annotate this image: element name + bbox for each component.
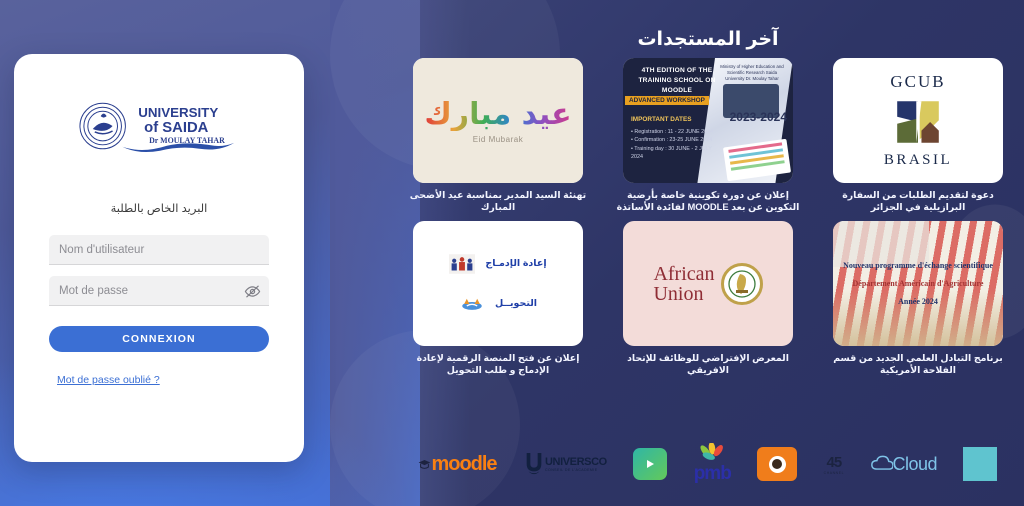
gcub-emblem-icon bbox=[892, 96, 944, 148]
universco-wordmark: UNIVERSCO bbox=[545, 456, 607, 468]
news-card[interactable]: عيد مبارك Eid Mubarak تهنئة السيد المدير… bbox=[400, 58, 596, 213]
partner-logo-cloud[interactable]: Cloud bbox=[871, 442, 938, 486]
usda-line1: Nouveau programme d'échange scientifique bbox=[843, 261, 993, 270]
graduation-cap-icon bbox=[418, 458, 431, 471]
login-form: CONNEXION bbox=[49, 235, 269, 352]
transfer-label: التحويــل bbox=[495, 298, 537, 309]
news-card-caption: دعوة لتقديم الطلبات من السفارة البرازيلي… bbox=[826, 189, 1010, 213]
universco-subtitle: CONSEIL DE L'ACADEMIE bbox=[545, 468, 598, 472]
partner-logo-video-platform[interactable] bbox=[633, 442, 667, 486]
camera-icon bbox=[757, 447, 797, 481]
partner-logo-45-channel[interactable]: 45 CHANNEL bbox=[824, 442, 844, 486]
usda-line3: Année 2024 bbox=[898, 297, 938, 306]
c-shape-icon bbox=[963, 447, 997, 481]
university-of-saida-logo: UNIVERSITY of SAIDA Dr MOULAY TAHAR bbox=[75, 101, 243, 157]
channel-number: 45 bbox=[827, 454, 842, 471]
moodle-title: 4TH EDITION OF THE TRAINING SCHOOL ON MO… bbox=[628, 66, 726, 96]
universco-mark-icon bbox=[523, 451, 545, 477]
news-thumbnail-moodle: Ministry of Higher Education and Scienti… bbox=[623, 58, 793, 183]
au-line2: Union bbox=[653, 284, 714, 304]
partner-logo-c-platform[interactable] bbox=[963, 442, 997, 486]
news-card[interactable]: إعادة الإدمـاج التحويــل bbox=[400, 221, 596, 376]
news-grid: عيد مبارك Eid Mubarak تهنئة السيد المدير… bbox=[396, 58, 1020, 376]
people-group-icon bbox=[449, 254, 475, 274]
eid-subtitle: Eid Mubarak bbox=[473, 135, 523, 144]
password-input[interactable] bbox=[49, 276, 269, 306]
partner-logo-universco[interactable]: UNIVERSCO CONSEIL DE L'ACADEMIE bbox=[523, 442, 607, 486]
news-section-title: آخر المستجدات bbox=[392, 28, 1024, 51]
news-card-caption: تهنئة السيد المدير بمناسبة عيد الأضحى ال… bbox=[406, 189, 590, 213]
news-card-caption: إعلان عن فتح المنصة الرقمية لإعادة الإدم… bbox=[406, 352, 590, 376]
partner-logos-bar: moodle UNIVERSCO CONSEIL DE L'ACADEMIE p… bbox=[392, 438, 1024, 490]
news-card[interactable]: Ministry of Higher Education and Scienti… bbox=[610, 58, 806, 213]
moodle-badge: ADVANCED WORKSHOP bbox=[625, 96, 709, 105]
news-card[interactable]: GCUB BRASIL دعوة لتقديم الطلبات من السفا… bbox=[820, 58, 1016, 213]
news-thumbnail-usda: Nouveau programme d'échange scientifique… bbox=[833, 221, 1003, 346]
african-union-emblem-icon bbox=[721, 263, 763, 305]
moodle-dates: • Registration : 11 - 22 JUNE 2024 • Con… bbox=[631, 128, 723, 162]
moodle-wordmark: moodle bbox=[431, 453, 496, 476]
news-thumbnail-eid: عيد مبارك Eid Mubarak bbox=[413, 58, 583, 183]
student-email-label: البريد الخاص بالطلبة bbox=[111, 201, 208, 215]
news-card-caption: برنامج التبادل العلمي الجديد من قسم الفل… bbox=[826, 352, 1010, 376]
svg-text:UNIVERSITY: UNIVERSITY bbox=[138, 105, 218, 120]
gcub-top-text: GCUB bbox=[890, 72, 945, 92]
partner-logo-photo-gallery[interactable] bbox=[757, 442, 797, 486]
eye-off-icon bbox=[244, 283, 261, 300]
news-thumbnail-gcub: GCUB BRASIL bbox=[833, 58, 1003, 183]
partner-logo-pmb[interactable]: pmb bbox=[694, 442, 731, 486]
play-button-icon bbox=[633, 448, 667, 480]
news-thumbnail-reintegration: إعادة الإدمـاج التحويــل bbox=[413, 221, 583, 346]
news-card-caption: إعلان عن دورة تكوينية خاصة بأرضية التكوي… bbox=[616, 189, 800, 213]
usda-line2: Département Américain d'Agriculture bbox=[853, 279, 984, 288]
news-section: آخر المستجدات عيد مبارك Eid Mubarak تهنئ… bbox=[392, 0, 1024, 506]
pmb-wordmark: pmb bbox=[694, 463, 731, 485]
toggle-password-visibility-button[interactable] bbox=[243, 282, 261, 300]
partner-logo-moodle[interactable]: moodle bbox=[418, 442, 496, 486]
cloud-icon bbox=[871, 455, 893, 473]
username-input[interactable] bbox=[49, 235, 269, 265]
transfer-arrows-icon bbox=[459, 294, 485, 314]
gcub-bottom-text: BRASIL bbox=[884, 152, 952, 169]
news-card-caption: المعرض الإفتراضي للوظائف للإتحاد الافريق… bbox=[616, 352, 800, 376]
news-card[interactable]: Nouveau programme d'échange scientifique… bbox=[820, 221, 1016, 376]
pmb-flower-icon bbox=[696, 443, 728, 463]
login-card: UNIVERSITY of SAIDA Dr MOULAY TAHAR البر… bbox=[14, 54, 304, 462]
moodle-ministry-text: Ministry of Higher Education and Scienti… bbox=[717, 64, 787, 82]
au-line1: African bbox=[653, 264, 714, 284]
moodle-dates-header: IMPORTANT DATES bbox=[631, 116, 691, 123]
news-thumbnail-african-union: African Union bbox=[623, 221, 793, 346]
cloud-wordmark: Cloud bbox=[893, 454, 938, 475]
eid-calligraphy: عيد مبارك bbox=[424, 98, 571, 131]
login-submit-button[interactable]: CONNEXION bbox=[49, 326, 269, 352]
channel-subtitle: CHANNEL bbox=[824, 471, 844, 475]
moodle-year: 2023-2024 bbox=[730, 110, 787, 124]
forgot-password-link[interactable]: Mot de passe oublié ? bbox=[57, 374, 160, 386]
svg-text:of SAIDA: of SAIDA bbox=[144, 120, 208, 136]
news-card[interactable]: African Union المعرض الإفتراضي للوظائف ل… bbox=[610, 221, 806, 376]
reintegration-label: إعادة الإدمـاج bbox=[485, 258, 546, 269]
